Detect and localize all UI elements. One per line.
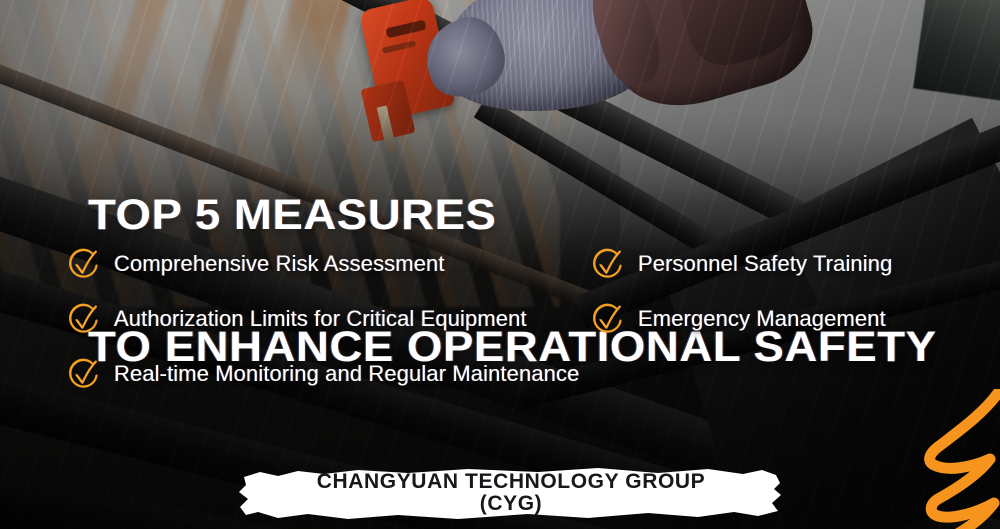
check-circle-icon — [64, 245, 102, 283]
check-circle-icon — [64, 300, 102, 338]
company-name-line-1: CHANGYUAN TECHNOLOGY GROUP — [317, 471, 706, 493]
checklist-column-left: Comprehensive Risk Assessment Authorizat… — [64, 236, 584, 401]
list-item-label: Real-time Monitoring and Regular Mainten… — [114, 361, 579, 387]
list-item-label: Emergency Management — [638, 306, 886, 332]
check-circle-icon — [588, 300, 626, 338]
checklist-column-right: Personnel Safety Training Emergency Mana… — [588, 236, 988, 346]
list-item: Authorization Limits for Critical Equipm… — [64, 291, 584, 346]
company-banner: CHANGYUAN TECHNOLOGY GROUP (CYG) — [238, 465, 784, 521]
list-item: Emergency Management — [588, 291, 988, 346]
check-circle-icon — [64, 355, 102, 393]
list-item-label: Personnel Safety Training — [638, 251, 892, 277]
check-circle-icon — [588, 245, 626, 283]
list-item-label: Authorization Limits for Critical Equipm… — [114, 306, 527, 332]
company-name-line-2: (CYG) — [480, 493, 543, 515]
headline-line-1: TOP 5 MEASURES — [88, 193, 937, 237]
poster-content: TOP 5 MEASURES TO ENHANCE OPERATIONAL SA… — [0, 0, 1000, 529]
company-name: CHANGYUAN TECHNOLOGY GROUP (CYG) — [238, 465, 784, 521]
list-item: Personnel Safety Training — [588, 236, 988, 291]
list-item: Comprehensive Risk Assessment — [64, 236, 584, 291]
list-item-label: Comprehensive Risk Assessment — [114, 251, 445, 277]
list-item: Real-time Monitoring and Regular Mainten… — [64, 346, 584, 401]
safety-poster: TOP 5 MEASURES TO ENHANCE OPERATIONAL SA… — [0, 0, 1000, 529]
